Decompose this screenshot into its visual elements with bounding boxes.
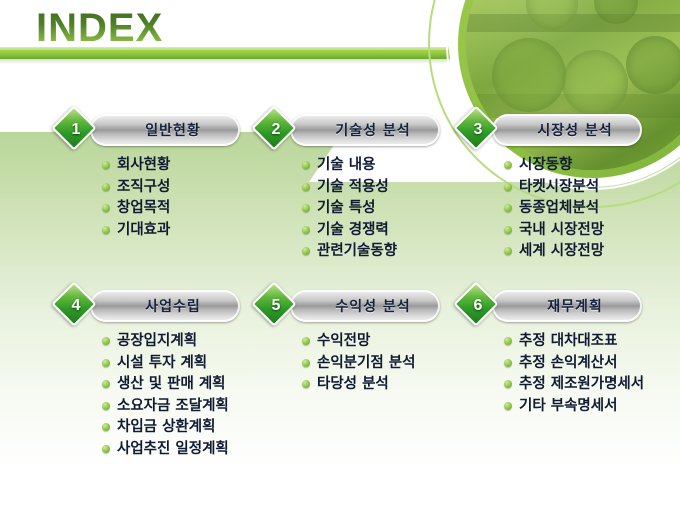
bullet-icon	[504, 183, 512, 191]
list-item[interactable]: 조직구성	[102, 180, 170, 195]
bullet-icon	[302, 359, 310, 367]
section-title-pill-4[interactable]: 사업수립	[90, 290, 240, 322]
section-block-3: 시장성 분석 3 시장동향 타켓시장분석 동종업체분석 국내 시장전망 세계 시…	[460, 112, 604, 266]
section-number-diamond-1	[51, 105, 96, 150]
list-item-label: 동종업체분석	[519, 201, 599, 216]
bullet-icon	[102, 402, 110, 410]
bullet-icon	[504, 380, 512, 388]
section-header-2[interactable]: 기술성 분석 2	[258, 112, 397, 150]
section-header-3[interactable]: 시장성 분석 3	[460, 112, 604, 150]
section-number-diamond-4	[51, 281, 96, 326]
list-item[interactable]: 시설 투자 계획	[102, 356, 229, 371]
section-title-label-1: 일반현황	[129, 120, 201, 140]
list-item[interactable]: 기술 특성	[302, 201, 397, 216]
section-title-pill-6[interactable]: 재무계획	[492, 290, 642, 322]
list-item[interactable]: 공장입지계획	[102, 334, 229, 349]
section-title-label-2: 기술성 분석	[319, 120, 410, 140]
section-header-5[interactable]: 수익성 분석 5	[258, 288, 415, 326]
section-list-2: 기술 내용 기술 적용성 기술 특성 기술 경쟁력 관련기술동향	[258, 158, 397, 259]
list-item-label: 수익전망	[317, 334, 370, 349]
list-item[interactable]: 세계 시장전망	[504, 244, 604, 259]
list-item[interactable]: 손익분기점 분석	[302, 356, 415, 371]
list-item-label: 관련기술동향	[317, 244, 397, 259]
list-item[interactable]: 수익전망	[302, 334, 415, 349]
list-item-label: 기술 특성	[317, 201, 375, 216]
list-item[interactable]: 동종업체분석	[504, 201, 604, 216]
list-item[interactable]: 차입금 상환계획	[102, 420, 229, 435]
bullet-icon	[102, 423, 110, 431]
list-item[interactable]: 기대효과	[102, 223, 170, 238]
section-block-2: 기술성 분석 2 기술 내용 기술 적용성 기술 특성 기술 경쟁력 관련기술동…	[258, 112, 397, 266]
list-item[interactable]: 추정 제조원가명세서	[504, 377, 644, 392]
section-number-diamond-3	[453, 105, 498, 150]
list-item-label: 공장입지계획	[117, 334, 197, 349]
bullet-icon	[504, 247, 512, 255]
section-block-4: 사업수립 4 공장입지계획 시설 투자 계획 생산 및 판매 계획 소요자금 조…	[58, 288, 229, 463]
list-item[interactable]: 국내 시장전망	[504, 223, 604, 238]
section-title-label-3: 시장성 분석	[521, 120, 612, 140]
section-grid: 일반현황 1 회사현황 조직구성 창업목적 기대효과 기술성 분석 2	[0, 0, 680, 510]
list-item-label: 조직구성	[117, 180, 170, 195]
list-item[interactable]: 기타 부속명세서	[504, 399, 644, 414]
index-slide: INDEX 일반현황 1 회사현황 조직구성 창업목적 기대효과 기술성 분석	[0, 0, 680, 510]
list-item-label: 창업목적	[117, 201, 170, 216]
list-item-label: 기타 부속명세서	[519, 399, 617, 414]
section-title-pill-2[interactable]: 기술성 분석	[290, 114, 440, 146]
list-item-label: 기술 경쟁력	[317, 223, 389, 238]
section-list-3: 시장동향 타켓시장분석 동종업체분석 국내 시장전망 세계 시장전망	[460, 158, 604, 259]
bullet-icon	[102, 161, 110, 169]
bullet-icon	[102, 204, 110, 212]
list-item[interactable]: 창업목적	[102, 201, 170, 216]
list-item-label: 기대효과	[117, 223, 170, 238]
section-title-pill-1[interactable]: 일반현황	[90, 114, 240, 146]
list-item-label: 추정 제조원가명세서	[519, 377, 644, 392]
bullet-icon	[504, 337, 512, 345]
section-list-4: 공장입지계획 시설 투자 계획 생산 및 판매 계획 소요자금 조달계획 차입금…	[58, 334, 229, 456]
list-item[interactable]: 소요자금 조달계획	[102, 399, 229, 414]
section-title-pill-3[interactable]: 시장성 분석	[492, 114, 642, 146]
bullet-icon	[302, 226, 310, 234]
list-item[interactable]: 관련기술동향	[302, 244, 397, 259]
list-item-label: 생산 및 판매 계획	[117, 377, 226, 392]
list-item[interactable]: 기술 내용	[302, 158, 397, 173]
list-item-label: 국내 시장전망	[519, 223, 604, 238]
list-item-label: 회사현황	[117, 158, 170, 173]
list-item-label: 차입금 상환계획	[117, 420, 215, 435]
list-item[interactable]: 타켓시장분석	[504, 180, 604, 195]
list-item[interactable]: 사업추진 일정계획	[102, 442, 229, 457]
list-item-label: 기술 내용	[317, 158, 375, 173]
section-header-4[interactable]: 사업수립 4	[58, 288, 229, 326]
list-item-label: 추정 대차대조표	[519, 334, 617, 349]
bullet-icon	[102, 380, 110, 388]
bullet-icon	[302, 161, 310, 169]
bullet-icon	[302, 380, 310, 388]
bullet-icon	[504, 359, 512, 367]
list-item-label: 사업추진 일정계획	[117, 442, 229, 457]
bullet-icon	[102, 183, 110, 191]
section-block-6: 재무계획 6 추정 대차대조표 추정 손익계산서 추정 제조원가명세서 기타 부…	[460, 288, 644, 420]
bullet-icon	[504, 226, 512, 234]
bullet-icon	[504, 402, 512, 410]
bullet-icon	[504, 204, 512, 212]
section-header-1[interactable]: 일반현황 1	[58, 112, 170, 150]
list-item[interactable]: 기술 경쟁력	[302, 223, 397, 238]
list-item-label: 타당성 분석	[317, 377, 389, 392]
bullet-icon	[102, 445, 110, 453]
bullet-icon	[302, 204, 310, 212]
list-item[interactable]: 추정 대차대조표	[504, 334, 644, 349]
list-item[interactable]: 기술 적용성	[302, 180, 397, 195]
list-item-label: 시장동향	[519, 158, 572, 173]
list-item-label: 기술 적용성	[317, 180, 389, 195]
list-item[interactable]: 생산 및 판매 계획	[102, 377, 229, 392]
bullet-icon	[302, 183, 310, 191]
section-list-1: 회사현황 조직구성 창업목적 기대효과	[58, 158, 170, 237]
list-item-label: 추정 손익계산서	[519, 356, 617, 371]
bullet-icon	[504, 161, 512, 169]
section-number-diamond-5	[251, 281, 296, 326]
list-item-label: 세계 시장전망	[519, 244, 604, 259]
list-item[interactable]: 회사현황	[102, 158, 170, 173]
section-header-6[interactable]: 재무계획 6	[460, 288, 644, 326]
section-number-diamond-6	[453, 281, 498, 326]
list-item-label: 시설 투자 계획	[117, 356, 207, 371]
section-number-diamond-2	[251, 105, 296, 150]
section-list-6: 추정 대차대조표 추정 손익계산서 추정 제조원가명세서 기타 부속명세서	[460, 334, 644, 413]
bullet-icon	[302, 247, 310, 255]
list-item[interactable]: 시장동향	[504, 158, 604, 173]
bullet-icon	[102, 359, 110, 367]
section-block-1: 일반현황 1 회사현황 조직구성 창업목적 기대효과	[58, 112, 170, 244]
bullet-icon	[102, 226, 110, 234]
list-item-label: 타켓시장분석	[519, 180, 599, 195]
section-block-5: 수익성 분석 5 수익전망 손익분기점 분석 타당성 분석	[258, 288, 415, 399]
bullet-icon	[102, 337, 110, 345]
list-item[interactable]: 타당성 분석	[302, 377, 415, 392]
list-item-label: 소요자금 조달계획	[117, 399, 229, 414]
list-item-label: 손익분기점 분석	[317, 356, 415, 371]
bullet-icon	[302, 337, 310, 345]
section-title-label-5: 수익성 분석	[319, 296, 410, 316]
section-title-label-6: 재무계획	[531, 296, 603, 316]
section-title-pill-5[interactable]: 수익성 분석	[290, 290, 440, 322]
section-list-5: 수익전망 손익분기점 분석 타당성 분석	[258, 334, 415, 392]
section-title-label-4: 사업수립	[129, 296, 201, 316]
list-item[interactable]: 추정 손익계산서	[504, 356, 644, 371]
